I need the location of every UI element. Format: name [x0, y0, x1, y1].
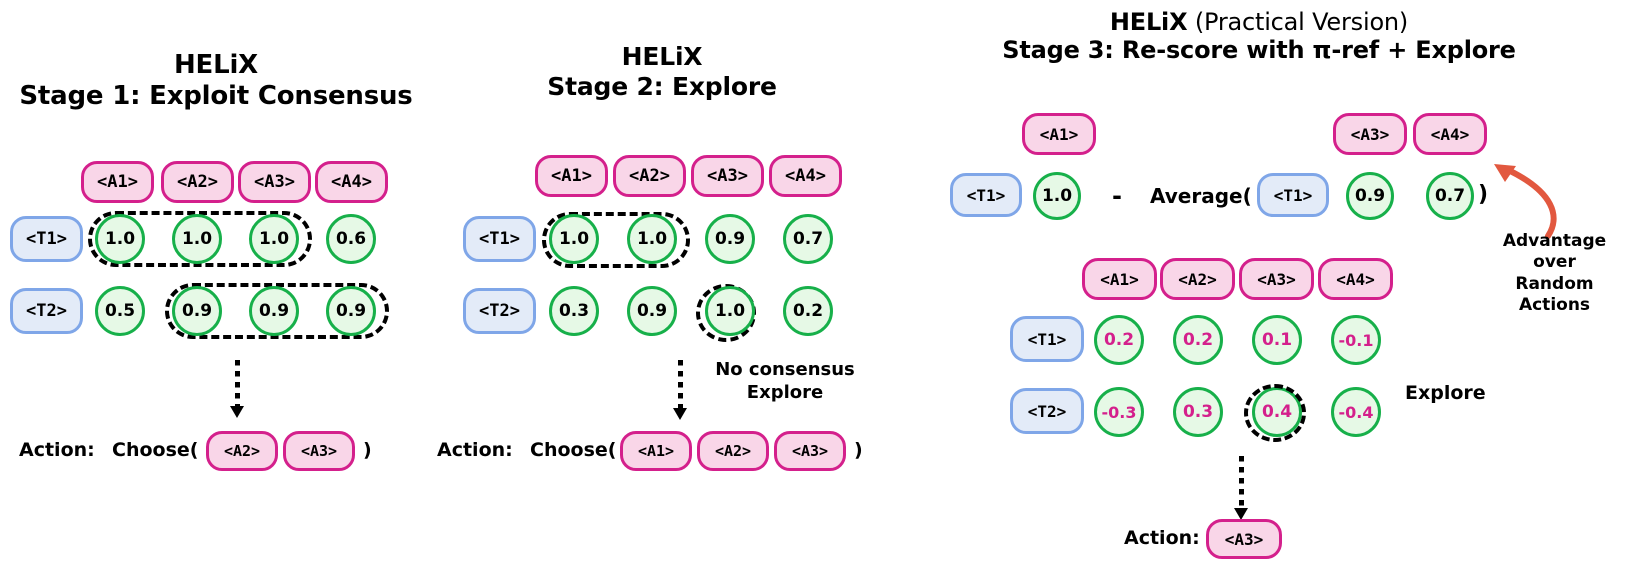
score-t2-a1-value: 0.5	[105, 301, 135, 321]
panel-3-title-line2: Stage 3: Re-score with π-ref + Explore	[892, 36, 1626, 64]
chosen-action-a3-label: <A3>	[792, 442, 828, 460]
task-pill-t2[interactable]: <T2>	[10, 288, 83, 334]
score-t2-a1: 0.5	[95, 286, 145, 336]
advantage-t1-a1-value: 0.2	[1104, 330, 1134, 350]
formula-rhs-task-t1[interactable]: <T1>	[1257, 173, 1329, 217]
arrow-stem	[678, 360, 683, 410]
score-t2-a4-value: 0.9	[336, 301, 366, 321]
action-pill-a1-label: <A1>	[97, 172, 138, 192]
final-chosen-action[interactable]: <A3>	[1206, 519, 1282, 559]
action-pill-a2-label: <A2>	[177, 172, 218, 192]
chosen-action-a1[interactable]: <A1>	[620, 431, 692, 471]
panel-stage-2: HELiX Stage 2: Explore <A1> <A2> <A3> <A…	[432, 0, 892, 588]
score-t2-a3: 0.9	[249, 286, 299, 336]
adv-action-pill-a2-label: <A2>	[1178, 270, 1217, 289]
score-t1-a3-value: 0.9	[715, 229, 745, 249]
score-t1-a2: 1.0	[172, 214, 222, 264]
score-t1-a4-value: 0.7	[793, 229, 823, 249]
panel-2-title: HELiX Stage 2: Explore	[432, 42, 892, 101]
flow-arrow-down	[678, 360, 683, 420]
final-action-label: Action:	[1124, 527, 1200, 549]
action-label: Action:	[19, 439, 95, 461]
score-t2-a3: 1.0	[705, 286, 755, 336]
action-pill-a1-label: <A1>	[551, 166, 592, 186]
no-consensus-note-line2: Explore	[747, 382, 823, 403]
advantage-t2-a4-value: -0.4	[1339, 403, 1374, 422]
advantage-annotation: Advantage over Random Actions	[1482, 231, 1626, 316]
score-t2-a3-value: 0.9	[259, 301, 289, 321]
advantage-t1-a3-value: 0.1	[1262, 330, 1292, 350]
formula-rhs-score-a4: 0.7	[1426, 172, 1474, 220]
action-label: Action:	[437, 439, 513, 461]
formula-lhs-action-a1[interactable]: <A1>	[1022, 113, 1096, 155]
formula-rhs-task-t1-label: <T1>	[1274, 186, 1313, 205]
score-t1-a1: 1.0	[95, 214, 145, 264]
no-consensus-note: No consensus Explore	[690, 359, 880, 404]
advantage-t2-a1-value: -0.3	[1102, 403, 1137, 422]
close-paren: )	[363, 439, 372, 461]
panel-3-title-light: (Practical Version)	[1187, 8, 1408, 36]
advantage-t2-a2-value: 0.3	[1183, 402, 1213, 422]
adv-task-pill-t1-label: <T1>	[1028, 330, 1067, 349]
average-label: Average(	[1150, 184, 1252, 208]
explore-label: Explore	[1405, 382, 1486, 404]
action-pill-a2-label: <A2>	[629, 166, 670, 186]
flow-arrow-down	[235, 360, 240, 418]
minus-operator: -	[1112, 182, 1122, 210]
panel-1-title-line2: Stage 1: Exploit Consensus	[0, 81, 432, 112]
advantage-t1-a2-value: 0.2	[1183, 330, 1213, 350]
panel-stage-3: HELiX (Practical Version) Stage 3: Re-sc…	[892, 0, 1626, 588]
advantage-t2-a3: 0.4	[1252, 387, 1302, 437]
score-t1-a3: 1.0	[249, 214, 299, 264]
advantage-annotation-line2: over	[1533, 252, 1576, 272]
chosen-action-a3[interactable]: <A3>	[774, 431, 846, 471]
advantage-t1-a3: 0.1	[1252, 315, 1302, 365]
score-t2-a2-value: 0.9	[182, 301, 212, 321]
advantage-t2-a3-value: 0.4	[1262, 402, 1292, 422]
advantage-t1-a2: 0.2	[1173, 315, 1223, 365]
score-t2-a2: 0.9	[627, 286, 677, 336]
action-pill-a3-label: <A3>	[254, 172, 295, 192]
panel-2-title-line1: HELiX	[432, 42, 892, 72]
score-t2-a4: 0.2	[783, 286, 833, 336]
advantage-t1-a4-value: -0.1	[1339, 331, 1374, 350]
advantage-t2-a4: -0.4	[1331, 387, 1381, 437]
final-chosen-action-label: <A3>	[1225, 530, 1264, 549]
score-t2-a4-value: 0.2	[793, 301, 823, 321]
formula-lhs-task-t1-label: <T1>	[967, 186, 1006, 205]
advantage-t1-a4: -0.1	[1331, 315, 1381, 365]
score-t1-a1-value: 1.0	[559, 229, 589, 249]
advantage-t2-a2: 0.3	[1173, 387, 1223, 437]
formula-rhs-score-a3: 0.9	[1346, 172, 1394, 220]
arrow-head	[673, 408, 687, 420]
panel-3-title-line1: HELiX (Practical Version)	[892, 8, 1626, 36]
chosen-action-a3[interactable]: <A3>	[283, 431, 355, 471]
advantage-arrow-icon	[1486, 152, 1576, 242]
action-pill-a4-label: <A4>	[331, 172, 372, 192]
task-pill-t2[interactable]: <T2>	[463, 288, 536, 334]
task-pill-t1[interactable]: <T1>	[10, 216, 83, 262]
formula-lhs-score-value: 1.0	[1042, 186, 1072, 206]
task-pill-t1[interactable]: <T1>	[463, 216, 536, 262]
formula-rhs-action-a4[interactable]: <A4>	[1413, 113, 1487, 155]
formula-rhs-action-a4-label: <A4>	[1431, 125, 1470, 144]
formula-rhs-score-a4-value: 0.7	[1435, 186, 1465, 206]
formula-lhs-action-a1-label: <A1>	[1040, 125, 1079, 144]
chosen-action-a2[interactable]: <A2>	[697, 431, 769, 471]
score-t1-a3: 0.9	[705, 214, 755, 264]
score-t1-a2-value: 1.0	[637, 229, 667, 249]
arrow-head	[230, 406, 244, 418]
action-pill-a1[interactable]: <A1>	[81, 161, 154, 203]
action-pill-a2[interactable]: <A2>	[161, 161, 234, 203]
arrow-stem	[1239, 456, 1244, 510]
advantage-t1-a1: 0.2	[1094, 315, 1144, 365]
panel-1-title: HELiX Stage 1: Exploit Consensus	[0, 50, 432, 111]
score-t1-a4: 0.6	[326, 214, 376, 264]
adv-task-pill-t2-label: <T2>	[1028, 402, 1067, 421]
panel-1-title-line1: HELiX	[0, 50, 432, 81]
task-pill-t1-label: <T1>	[479, 229, 520, 249]
action-pill-a4[interactable]: <A4>	[315, 161, 388, 203]
action-pill-a4[interactable]: <A4>	[769, 155, 842, 197]
advantage-annotation-line3: Random	[1515, 274, 1593, 294]
adv-action-pill-a1-label: <A1>	[1100, 270, 1139, 289]
score-t2-a1: 0.3	[549, 286, 599, 336]
adv-action-pill-a4[interactable]: <A4>	[1318, 258, 1393, 300]
choose-label: Choose(	[112, 439, 198, 461]
score-t1-a2: 1.0	[627, 214, 677, 264]
formula-rhs-action-a3-label: <A3>	[1351, 125, 1390, 144]
adv-action-pill-a1[interactable]: <A1>	[1082, 258, 1157, 300]
panel-stage-1: HELiX Stage 1: Exploit Consensus <A1> <A…	[0, 0, 432, 588]
formula-lhs-score: 1.0	[1033, 172, 1081, 220]
formula-rhs-action-a3[interactable]: <A3>	[1333, 113, 1407, 155]
chosen-action-a2-label: <A2>	[715, 442, 751, 460]
adv-action-pill-a3-label: <A3>	[1257, 270, 1296, 289]
action-pill-a3-label: <A3>	[707, 166, 748, 186]
score-t1-a3-value: 1.0	[259, 229, 289, 249]
action-pill-a1[interactable]: <A1>	[535, 155, 608, 197]
advantage-annotation-line4: Actions	[1519, 295, 1590, 315]
score-t1-a1-value: 1.0	[105, 229, 135, 249]
adv-action-pill-a3[interactable]: <A3>	[1239, 258, 1314, 300]
action-pill-a3[interactable]: <A3>	[238, 161, 311, 203]
score-t1-a2-value: 1.0	[182, 229, 212, 249]
advantage-annotation-line1: Advantage	[1503, 231, 1606, 251]
arrow-stem	[235, 360, 240, 408]
score-t2-a4: 0.9	[326, 286, 376, 336]
flow-arrow-down	[1239, 456, 1244, 520]
close-paren: )	[854, 439, 863, 461]
choose-label: Choose(	[530, 439, 616, 461]
chosen-action-a1-label: <A1>	[638, 442, 674, 460]
score-t2-a2-value: 0.9	[637, 301, 667, 321]
score-t2-a2: 0.9	[172, 286, 222, 336]
task-pill-t2-label: <T2>	[26, 301, 67, 321]
formula-rhs-score-a3-value: 0.9	[1355, 186, 1385, 206]
task-pill-t1-label: <T1>	[26, 229, 67, 249]
chosen-action-a2[interactable]: <A2>	[206, 431, 278, 471]
score-t2-a3-value: 1.0	[715, 301, 745, 321]
panel-3-title-bold: HELiX	[1110, 8, 1188, 36]
adv-action-pill-a4-label: <A4>	[1336, 270, 1375, 289]
score-t1-a1: 1.0	[549, 214, 599, 264]
chosen-action-a3-label: <A3>	[301, 442, 337, 460]
score-t1-a4-value: 0.6	[336, 229, 366, 249]
panel-2-title-line2: Stage 2: Explore	[432, 72, 892, 102]
adv-task-pill-t1[interactable]: <T1>	[1010, 316, 1084, 362]
action-pill-a4-label: <A4>	[785, 166, 826, 186]
score-t1-a4: 0.7	[783, 214, 833, 264]
task-pill-t2-label: <T2>	[479, 301, 520, 321]
no-consensus-note-line1: No consensus	[715, 359, 855, 380]
chosen-action-a2-label: <A2>	[224, 442, 260, 460]
panel-3-title: HELiX (Practical Version) Stage 3: Re-sc…	[892, 8, 1626, 65]
action-pill-a2[interactable]: <A2>	[613, 155, 686, 197]
action-pill-a3[interactable]: <A3>	[691, 155, 764, 197]
advantage-t2-a1: -0.3	[1094, 387, 1144, 437]
formula-lhs-task-t1[interactable]: <T1>	[950, 173, 1022, 217]
adv-action-pill-a2[interactable]: <A2>	[1160, 258, 1235, 300]
score-t2-a1-value: 0.3	[559, 301, 589, 321]
adv-task-pill-t2[interactable]: <T2>	[1010, 388, 1084, 434]
